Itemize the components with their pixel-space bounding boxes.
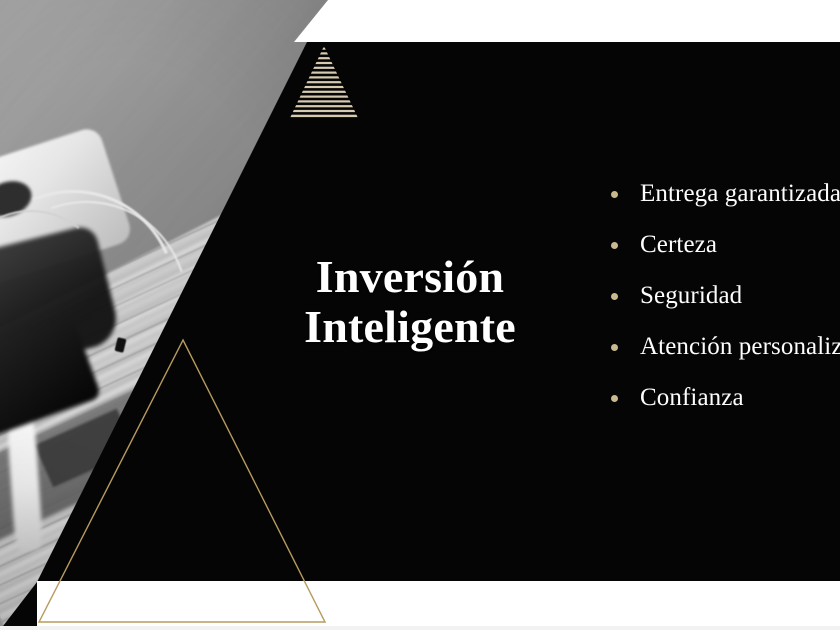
slide-title-line-1: Inversión — [210, 252, 610, 302]
slide-canvas: Inversión Inteligente Entrega garantizad… — [0, 0, 840, 630]
list-item: Entrega garantizada — [606, 168, 840, 219]
slide-title: Inversión Inteligente — [210, 252, 610, 352]
list-item: Atención personalizada — [606, 321, 840, 372]
bullet-dot-icon — [611, 395, 618, 402]
bottom-white-band — [0, 581, 840, 630]
list-item: Seguridad — [606, 270, 840, 321]
feature-bullet-list: Entrega garantizada Certeza Seguridad At… — [606, 168, 840, 423]
bullet-dot-icon — [611, 344, 618, 351]
list-item-label: Confianza — [640, 384, 744, 411]
slide-title-line-2: Inteligente — [210, 302, 610, 352]
bullet-dot-icon — [611, 293, 618, 300]
striped-pyramid-logo — [290, 46, 358, 118]
bottom-edge-strip — [0, 626, 840, 630]
bullet-dot-icon — [611, 242, 618, 249]
list-item-label: Atención personalizada — [640, 333, 840, 360]
list-item-label: Entrega garantizada — [640, 180, 840, 207]
list-item-label: Seguridad — [640, 282, 742, 309]
bullet-dot-icon — [611, 191, 618, 198]
list-item: Confianza — [606, 372, 840, 423]
list-item: Certeza — [606, 219, 840, 270]
list-item-label: Certeza — [640, 231, 717, 258]
